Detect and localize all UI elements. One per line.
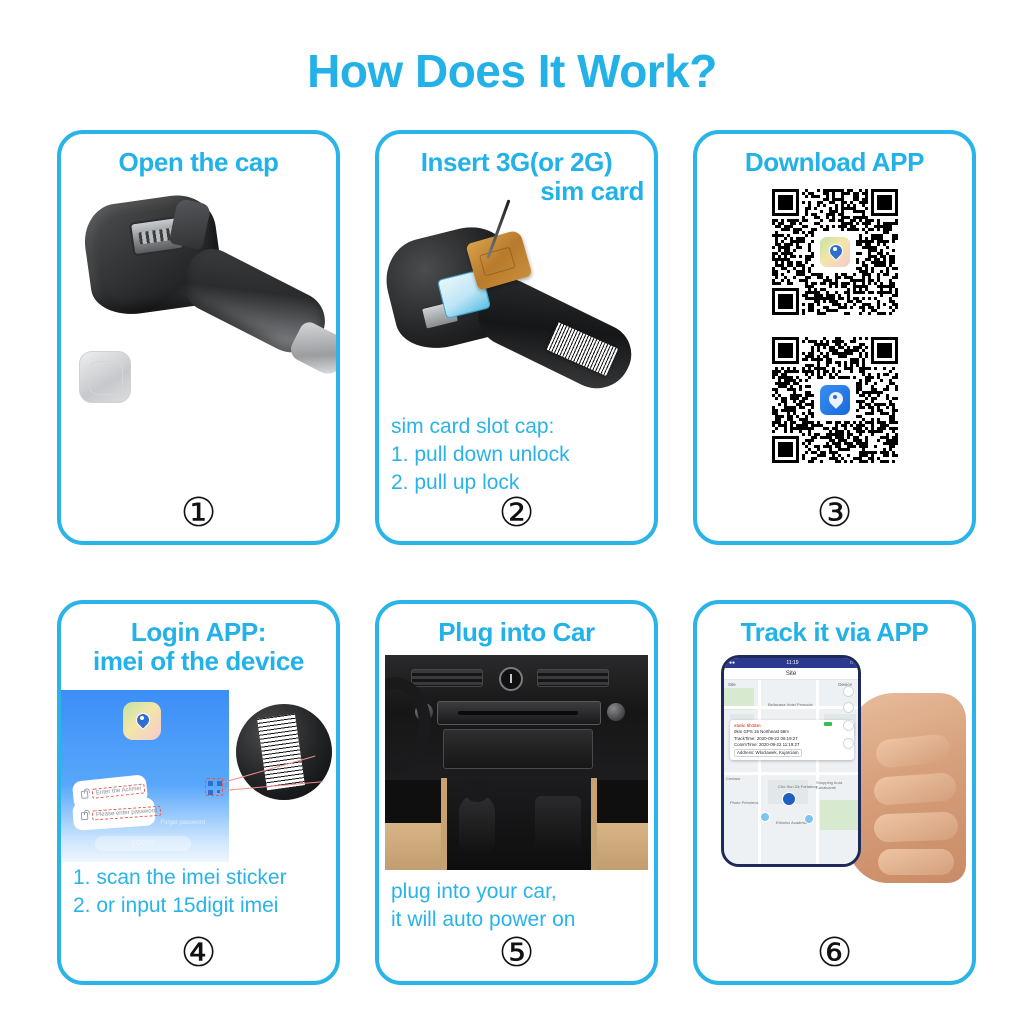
road: [724, 772, 858, 775]
finger: [875, 733, 952, 769]
step-2-body-line-1: sim card slot cap:: [391, 413, 642, 441]
map-pin-logo-icon: [818, 235, 852, 269]
step-4-body-line-2: 2. or input 15digit imei: [73, 892, 324, 920]
blue-pin-logo-icon: [818, 383, 852, 417]
smartphone: ●● 11:19 □ Site: [721, 655, 861, 867]
step-card-6: Track it via APP ●● 11:19 □ Site: [693, 600, 976, 985]
user-icon: [81, 791, 89, 800]
poi-label: Photo Petroleos: [730, 800, 758, 805]
login-button[interactable]: LOGIN: [95, 836, 191, 851]
lock-icon: [81, 812, 89, 820]
armrest: [535, 796, 581, 856]
step-4-number: ④: [61, 933, 336, 973]
step-5-body: plug into your car, it will auto power o…: [379, 870, 654, 933]
app-login-screen: Enter the Ac/imei Please enter password …: [61, 690, 229, 862]
app-login-illustration: Enter the Ac/imei Please enter password …: [61, 684, 336, 864]
qr-scan-icon[interactable]: [205, 778, 223, 796]
step-4-title: Login APP: imei of the device: [61, 604, 336, 676]
road: [816, 680, 819, 867]
air-vent-right: [537, 669, 609, 687]
step-2-number: ②: [379, 493, 654, 533]
car-interior-photo: [385, 655, 648, 870]
tab-site[interactable]: Site: [728, 682, 736, 687]
finger: [873, 772, 957, 806]
map-view[interactable]: Site Device Bellacasa Hotel Pensode Phot…: [724, 680, 858, 867]
step-6-title: Track it via APP: [697, 604, 972, 647]
dash-clock: [499, 667, 523, 691]
step-4-title-line2: imei of the device: [67, 647, 330, 676]
device-info-card: static 5h16m 0km GPS 15 Northeast 58m Tr…: [730, 720, 854, 760]
gear-shifter: [459, 794, 495, 852]
detached-cap: [79, 351, 131, 403]
step-2-title-line2: sim card: [385, 177, 648, 206]
map-marker[interactable]: [804, 814, 814, 824]
barcode-label: [257, 714, 305, 791]
status-left: ●●: [729, 660, 735, 666]
forget-password-link[interactable]: Forget password: [160, 820, 205, 826]
hand: [848, 693, 966, 883]
map-marker[interactable]: [760, 812, 770, 822]
finger: [874, 812, 959, 843]
head-unit: [437, 701, 601, 725]
center-console: [441, 778, 597, 870]
step-2-body: sim card slot cap: 1. pull down unlock 2…: [379, 413, 654, 496]
step-5-title: Plug into Car: [379, 604, 654, 647]
air-vent-left: [411, 669, 483, 687]
step-3-number: ③: [697, 493, 972, 533]
step-5-number: ⑤: [379, 933, 654, 973]
qr-code-map-app[interactable]: [766, 183, 904, 321]
qr-code-blue-app[interactable]: [766, 331, 904, 469]
map-layers-button[interactable]: [843, 686, 854, 697]
status-time: 11:19: [786, 660, 798, 666]
step-6-number: ⑥: [697, 933, 972, 973]
battery-icon: [824, 722, 832, 726]
step-2-body-line-2: 1. pull down unlock: [391, 441, 642, 469]
step-1-title: Open the cap: [61, 134, 336, 177]
poi-label: Cho Sun Dk Fortaleza: [778, 784, 817, 789]
step-card-3: Download APP ③: [693, 130, 976, 545]
password-placeholder: Please enter password: [92, 806, 162, 821]
park-area: [820, 800, 860, 830]
finger: [878, 849, 954, 875]
qr-code-stack: [697, 183, 972, 469]
poi-label: Centaur: [726, 776, 740, 781]
poi-label: Ethiolux Acadmia: [776, 820, 807, 825]
step-4-body: 1. scan the imei sticker 2. or input 15d…: [61, 864, 336, 919]
road: [758, 680, 761, 867]
app-title-bar: Site: [724, 668, 858, 680]
step-card-1: Open the cap ①: [57, 130, 340, 545]
poi-label: Bellacasa Hotel Pensode: [768, 702, 813, 707]
step-3-title: Download APP: [697, 134, 972, 177]
step-2-title: Insert 3G(or 2G) sim card: [379, 134, 654, 206]
address: Address: Wloclawek, Kujarciam: [734, 749, 802, 757]
device-status: static 5h16m: [734, 723, 761, 728]
password-field[interactable]: Please enter password: [72, 797, 156, 831]
device-marker[interactable]: [782, 792, 796, 806]
locate-button[interactable]: [843, 702, 854, 713]
sim-insert-illustration: [379, 208, 654, 413]
infographic-page: How Does It Work? Open the cap ① Insert …: [0, 0, 1024, 1024]
tracker-device-illustration: [61, 183, 336, 419]
imei-sticker-closeup: [236, 704, 332, 800]
control-knob-right: [607, 703, 625, 721]
poi-label: Shopping Aura Cavalcante: [816, 780, 858, 790]
status-right: □: [850, 660, 853, 666]
step-card-2: Insert 3G(or 2G) sim card sim card slot …: [375, 130, 658, 545]
phone-in-hand-illustration: ●● 11:19 □ Site: [697, 653, 972, 883]
step-1-number: ①: [61, 493, 336, 533]
page-title: How Does It Work?: [0, 44, 1024, 98]
imei-placeholder: Enter the Ac/imei: [92, 784, 146, 800]
step-card-4: Login APP: imei of the device Enter the …: [57, 600, 340, 985]
step-2-title-line1: Insert 3G(or 2G): [421, 147, 613, 177]
step-4-title-line1: Login APP:: [131, 617, 266, 647]
steps-grid: Open the cap ① Insert 3G(or 2G) sim card: [57, 130, 977, 985]
step-card-5: Plug into Car plug into your c: [375, 600, 658, 985]
app-logo-icon: [123, 702, 161, 740]
step-5-body-line-1: plug into your car,: [391, 878, 642, 906]
step-4-body-line-1: 1. scan the imei sticker: [73, 864, 324, 892]
phone-status-bar: ●● 11:19 □: [724, 658, 858, 668]
climate-controls: [443, 729, 593, 769]
